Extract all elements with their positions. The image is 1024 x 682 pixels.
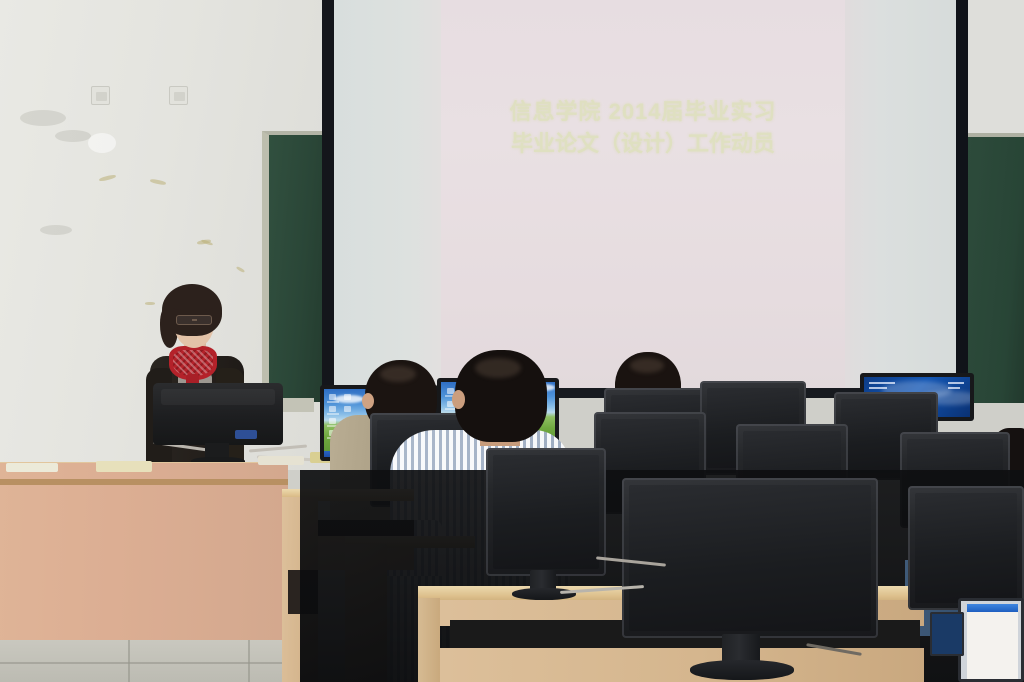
- floor-tile-line: [0, 662, 300, 664]
- screen-right-band: [845, 0, 962, 393]
- podium-monitor-back: [153, 383, 283, 445]
- window-body: [967, 612, 1018, 679]
- projected-image-area: [441, 0, 845, 393]
- vga-connector: [235, 430, 257, 439]
- projected-slide-text: 信息学院 2014届毕业实习 毕业论文（设计）工作动员: [441, 96, 845, 160]
- presenter-scarf-pattern: [173, 350, 213, 376]
- classroom-photo: 信息学院 2014届毕业实习 毕业论文（设计）工作动员: [0, 0, 1024, 682]
- wall-switch-icon: [91, 86, 110, 105]
- monitor-back-foreground-center: [622, 478, 878, 638]
- slide-line-1: 信息学院 2014届毕业实习: [441, 96, 845, 128]
- hair-highlight: [630, 358, 664, 373]
- glasses-icon: [176, 315, 212, 325]
- window-title-bar: [967, 604, 1018, 612]
- wall-scuff: [40, 225, 72, 235]
- slide-line-2: 毕业论文（设计）工作动员: [441, 128, 845, 160]
- monitor-back-foreground-right: [908, 486, 1024, 610]
- podium-desk-edge: [0, 479, 288, 485]
- student-2-ear: [452, 390, 465, 409]
- monitor-screen-window: [961, 601, 1021, 679]
- monitor-corner: [958, 598, 1024, 682]
- right-wall: [960, 0, 1024, 140]
- paper-sheet: [258, 456, 304, 465]
- hair-highlight: [475, 358, 521, 378]
- presenter-fringe: [168, 288, 218, 310]
- floor-tile-line: [128, 640, 130, 682]
- chalkboard-left: [262, 131, 322, 402]
- floor-tile-line: [248, 640, 250, 682]
- wall-socket-icon: [169, 86, 188, 105]
- wall-scuff: [55, 130, 91, 142]
- paper-sheet: [6, 463, 58, 472]
- wall-scuff: [20, 110, 66, 126]
- student-1-ear: [362, 393, 374, 409]
- monitor-base: [690, 660, 794, 680]
- wall-highlight: [88, 133, 116, 153]
- monitor-corner-secondary: [930, 612, 964, 656]
- paper-sheet: [96, 461, 152, 472]
- hair-highlight: [380, 366, 416, 382]
- screen-left-band: [334, 0, 441, 393]
- chalkboard-right: [968, 133, 1024, 403]
- front-desk-leg: [418, 598, 440, 682]
- screen-right-edge: [956, 0, 968, 398]
- monitor-back-foreground-left: [486, 448, 606, 576]
